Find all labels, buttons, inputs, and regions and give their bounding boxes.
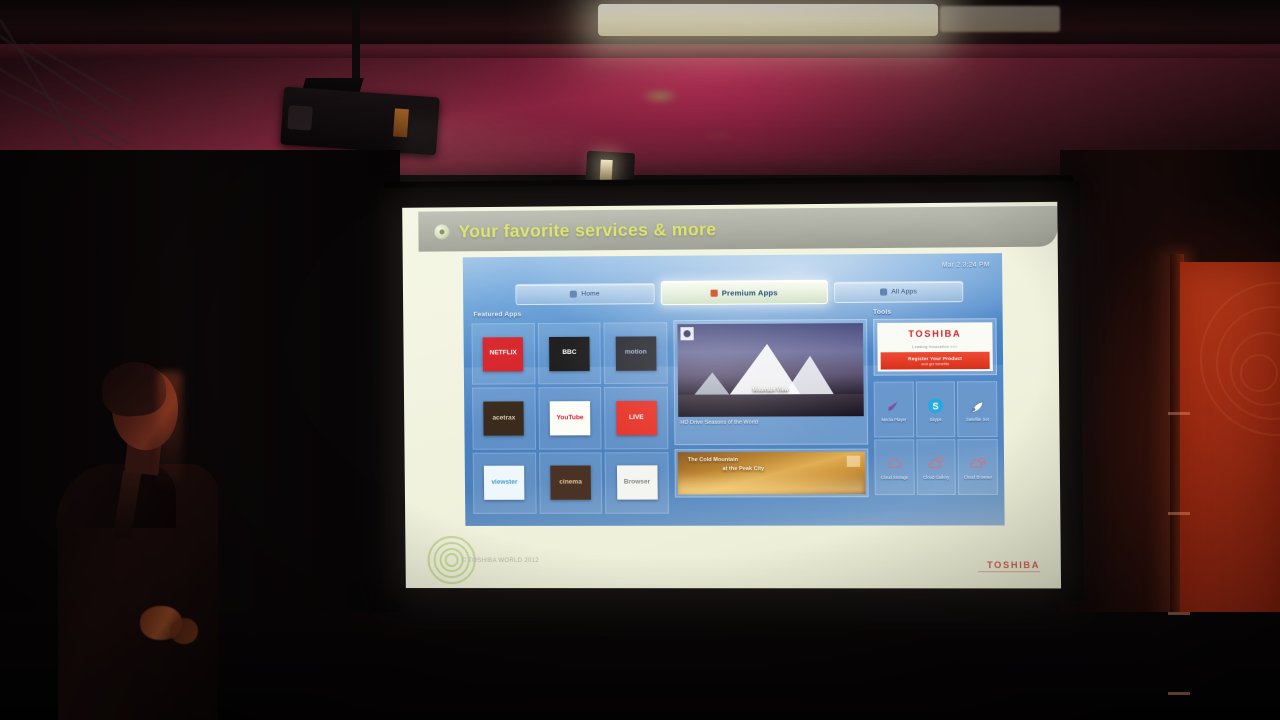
tab-all-apps-label: All Apps xyxy=(891,288,917,295)
tool-label: Media Player xyxy=(881,418,906,422)
skype-icon: S xyxy=(925,396,946,416)
featured-image: Mountain View xyxy=(677,323,863,417)
slide-footer-note: © TOSHIBA WORLD 2012 xyxy=(462,558,539,564)
home-icon xyxy=(570,290,577,297)
foreground-terrain xyxy=(678,394,864,417)
tab-bar: Home Premium Apps All Apps xyxy=(515,280,963,305)
tool-label: Cloud Browser xyxy=(964,476,992,480)
banner-grommet xyxy=(1168,692,1190,695)
app-tile-logo: NETFLIX xyxy=(483,337,524,371)
advertisement-panel[interactable]: TOSHIBA Leading Innovation >>> Register … xyxy=(873,318,997,375)
promo-line-1: The Cold Mountain xyxy=(688,457,738,463)
app-tile-browser[interactable]: Browser xyxy=(605,452,669,514)
banner-grommet xyxy=(1168,612,1190,615)
tab-premium-apps-label: Premium Apps xyxy=(722,288,778,297)
tool-label: Skype xyxy=(930,418,942,422)
advert-cta-line-2: and get benefits xyxy=(921,362,949,366)
promo-line-2: at the Peak City xyxy=(722,466,764,472)
featured-apps-heading: Featured Apps xyxy=(473,311,521,318)
advert-tagline: Leading Innovation >>> xyxy=(877,345,992,352)
grid-icon xyxy=(880,288,887,295)
app-tile-acetrax[interactable]: acetrax xyxy=(472,388,536,450)
projection-screen: Your favorite services & more Mar 2 3:24… xyxy=(378,181,1084,600)
banner-grommet xyxy=(1168,412,1190,415)
tool-label: Satellite Set xyxy=(966,418,989,422)
app-tile-viewster[interactable]: viewster xyxy=(473,452,537,514)
tool-cloud-gallery[interactable]: Cloud Gallery xyxy=(916,439,956,495)
conference-photo-scene: Your favorite services & more Mar 2 3:24… xyxy=(0,0,1280,720)
tool-label: Cloud Storage xyxy=(881,476,909,480)
app-tile-logo: acetrax xyxy=(484,401,525,435)
featured-content-panel[interactable]: Mountain View HD Drive Seasons of the Wo… xyxy=(673,319,868,445)
app-tile-cinema[interactable]: cinema xyxy=(539,452,603,514)
app-tile-logo: BBC xyxy=(549,336,590,370)
app-tile-logo: motion xyxy=(615,336,656,370)
advertisement-card: TOSHIBA Leading Innovation >>> Register … xyxy=(877,322,993,371)
presentation-slide: Your favorite services & more Mar 2 3:24… xyxy=(402,202,1061,589)
toshiba-logo-underline xyxy=(978,571,1040,572)
truss-strut xyxy=(0,28,132,126)
tool-media-player[interactable]: Media Player xyxy=(874,382,914,438)
tools-heading: Tools xyxy=(873,309,891,316)
tool-cloud-storage[interactable]: Cloud Storage xyxy=(874,439,914,495)
presenter-silhouette xyxy=(40,368,230,720)
slide-header-bar: Your favorite services & more xyxy=(418,206,1057,252)
tool-label: Cloud Gallery xyxy=(923,476,949,480)
tab-home[interactable]: Home xyxy=(515,283,655,305)
page-title: Your favorite services & more xyxy=(458,219,716,242)
banner-grommet xyxy=(1168,512,1190,515)
circle-bullet-icon xyxy=(434,224,449,239)
banner-ring-decoration xyxy=(1240,354,1278,392)
satellite-dish-icon xyxy=(967,396,988,416)
app-tile-logo: YouTube xyxy=(550,401,591,435)
advert-brand: TOSHIBA xyxy=(877,322,992,345)
ceiling-recessed-light xyxy=(700,128,736,142)
promo-banner-art: The Cold Mountain at the Peak City xyxy=(678,452,866,495)
advert-cta[interactable]: Register Your Product and get benefits xyxy=(881,352,990,370)
presenter-rim-light xyxy=(158,372,182,492)
cloud-search-icon xyxy=(968,454,989,474)
tab-all-apps[interactable]: All Apps xyxy=(834,280,963,302)
tool-satellite[interactable]: Satellite Set xyxy=(957,381,997,437)
featured-apps-grid: NETFLIXBBCmotionacetraxYouTubeLIVEviewst… xyxy=(471,322,669,514)
featured-subtitle: HD Drive Seasons of the World xyxy=(678,419,864,426)
tool-cloud-browser[interactable]: Cloud Browser xyxy=(958,439,998,495)
app-tile-logo: LIVE xyxy=(616,401,657,435)
cloud-photo-icon xyxy=(926,454,947,474)
truss-strut xyxy=(0,88,133,156)
app-tile-bbc-iplayer[interactable]: BBC xyxy=(537,323,601,385)
app-tile-logo: cinema xyxy=(550,466,591,500)
tab-home-label: Home xyxy=(581,290,599,297)
media-player-icon xyxy=(883,396,904,416)
svg-text:S: S xyxy=(932,401,938,411)
toshiba-logo: TOSHIBA xyxy=(987,560,1040,570)
truss-strut xyxy=(0,62,129,145)
tab-premium-apps[interactable]: Premium Apps xyxy=(661,280,828,305)
green-light-spot xyxy=(640,88,680,104)
fluorescent-strip-light-secondary xyxy=(940,6,1060,32)
media-badge-icon xyxy=(680,327,693,340)
smart-tv-interface: Mar 2 3:24 PM Home Premium Apps All Apps xyxy=(463,253,1005,526)
app-tile-youtube[interactable]: YouTube xyxy=(538,387,602,449)
clock-display: Mar 2 3:24 PM xyxy=(942,261,990,268)
app-tile-dailymotion[interactable]: motion xyxy=(604,322,668,384)
tool-skype[interactable]: SSkype xyxy=(915,381,955,437)
app-tile-logo: viewster xyxy=(484,466,525,500)
tools-grid: Media PlayerSSkypeSatellite SetCloud Sto… xyxy=(874,381,998,495)
app-tile-logo: Browser xyxy=(617,466,658,500)
projector-lens-icon xyxy=(287,105,313,131)
promo-banner[interactable]: The Cold Mountain at the Peak City xyxy=(675,449,869,498)
app-tile-netflix[interactable]: NETFLIX xyxy=(471,323,535,385)
star-icon xyxy=(711,289,718,296)
fluorescent-strip-light xyxy=(598,4,938,36)
presenter-hand-secondary xyxy=(170,618,198,644)
ceiling-rail xyxy=(0,44,1280,58)
advert-cta-line-1: Register Your Product xyxy=(908,355,962,360)
promo-city-glow xyxy=(678,472,866,495)
featured-image-caption: Mountain View xyxy=(678,387,864,394)
promo-chip-icon xyxy=(847,456,860,467)
projector-mount-arm xyxy=(352,0,360,86)
app-tile-live[interactable]: LIVE xyxy=(604,387,668,449)
cloud-icon xyxy=(884,454,905,474)
